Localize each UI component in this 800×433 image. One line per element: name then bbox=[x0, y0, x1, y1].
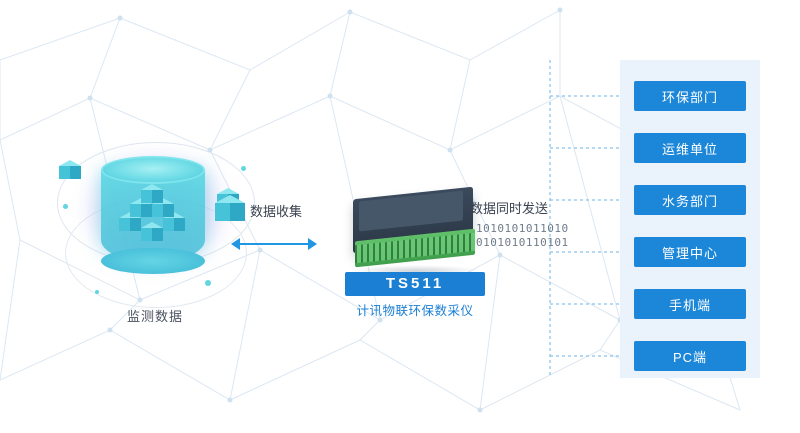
data-cube-icon bbox=[141, 184, 163, 206]
bidirectional-arrow-icon bbox=[231, 237, 317, 251]
destinations-panel: 环保部门 运维单位 水务部门 管理中心 手机端 PC端 bbox=[620, 60, 760, 378]
device-model-label: TS511 bbox=[345, 272, 485, 296]
device-badge: TS511 计讯物联环保数采仪 bbox=[345, 272, 485, 319]
arrow-line bbox=[239, 243, 309, 245]
destination-item-1[interactable]: 运维单位 bbox=[634, 133, 746, 163]
data-cube-stack bbox=[111, 178, 201, 258]
destination-item-5[interactable]: PC端 bbox=[634, 341, 746, 371]
database-cylinder-top bbox=[101, 156, 205, 184]
floating-data-cube-icon bbox=[59, 160, 85, 186]
data-cube-icon bbox=[141, 222, 163, 244]
orbit-node-dot bbox=[63, 204, 68, 209]
data-cube-icon bbox=[215, 195, 245, 227]
destination-item-0[interactable]: 环保部门 bbox=[634, 81, 746, 111]
orbit-node-dot bbox=[241, 166, 246, 171]
connector-lines bbox=[548, 60, 628, 378]
destination-item-4[interactable]: 手机端 bbox=[634, 289, 746, 319]
destination-item-2[interactable]: 水务部门 bbox=[634, 185, 746, 215]
data-collection-group: 数据收集 bbox=[215, 195, 345, 265]
transmit-label: 数据同时发送 bbox=[470, 198, 548, 217]
device-name-label: 计讯物联环保数采仪 bbox=[345, 300, 485, 319]
orbit-node-dot bbox=[95, 290, 99, 294]
diagram-canvas: 监测数据 数据收集 TS511 计讯物联环保数采仪 数据同时发送 1010101… bbox=[0, 0, 800, 433]
orbit-node-dot bbox=[205, 280, 211, 286]
data-collection-label: 数据收集 bbox=[250, 201, 302, 220]
destination-item-3[interactable]: 管理中心 bbox=[634, 237, 746, 267]
arrow-head-right-icon bbox=[308, 238, 317, 250]
monitoring-data-caption: 监测数据 bbox=[55, 306, 255, 325]
